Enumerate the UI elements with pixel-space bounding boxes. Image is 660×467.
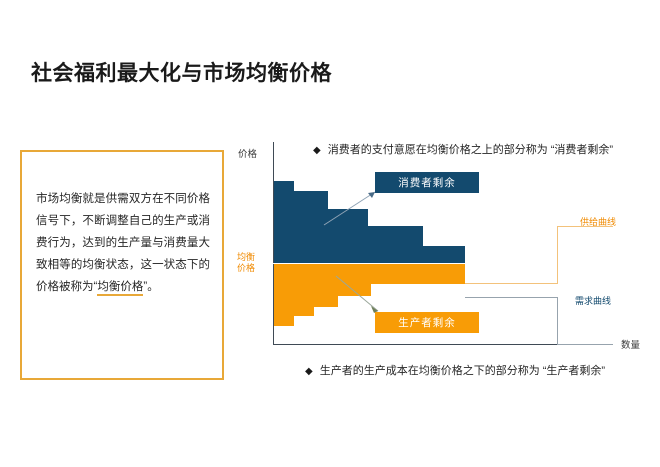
definition-period: 。 bbox=[147, 281, 159, 293]
legend-consumer-surplus: 消费者剩余 bbox=[375, 172, 479, 193]
definition-text-body: 市场均衡就是供需双方在不同价格信号下，不断调整自己的生产或消费行为，达到的生产量… bbox=[36, 193, 210, 293]
annotation-producer-surplus-text: 生产者的生产成本在均衡价格之下的部分称为 “生产者剩余” bbox=[320, 365, 605, 377]
legend-producer-surplus: 生产者剩余 bbox=[375, 312, 479, 333]
definition-callout-text: 市场均衡就是供需双方在不同价格信号下，不断调整自己的生产或消费行为，达到的生产量… bbox=[36, 188, 210, 298]
diamond-bullet-icon: ◆ bbox=[305, 366, 313, 377]
equilibrium-price-dashed-line bbox=[273, 263, 502, 264]
page-title: 社会福利最大化与市场均衡价格 bbox=[31, 57, 332, 87]
equilibrium-price-highlight: 均衡价格 bbox=[97, 281, 143, 293]
slide-canvas: 社会福利最大化与市场均衡价格 市场均衡就是供需双方在不同价格信号下，不断调整自己… bbox=[0, 0, 660, 467]
supply-demand-chart: 价格 数量 均衡 价格 供给曲线 需求曲线 bbox=[232, 136, 652, 366]
